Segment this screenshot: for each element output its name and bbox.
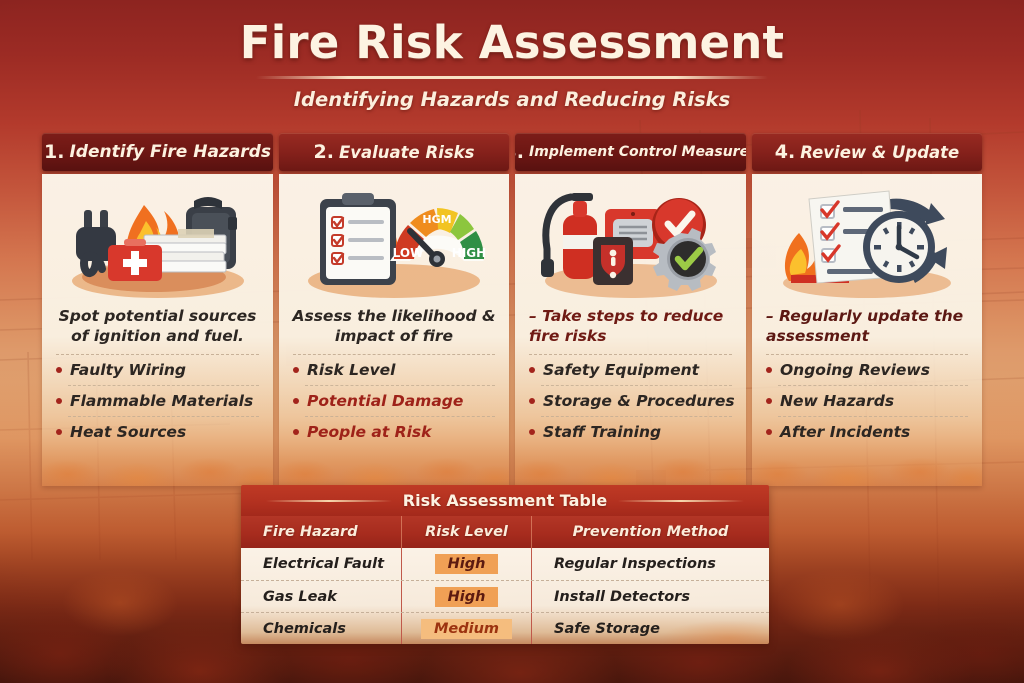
cell-prevention: Regular Inspections xyxy=(531,548,769,580)
fire-extinguisher xyxy=(541,193,597,279)
list-item[interactable]: Flammable Materials xyxy=(56,386,273,416)
table-column-header-risk: Risk Level xyxy=(401,516,531,548)
list-item[interactable]: Safety Equipment xyxy=(529,355,746,385)
bullet-label: Flammable Materials xyxy=(70,392,253,410)
step-body-1: Spot potential sources of ignition and f… xyxy=(42,174,273,486)
bullet-label: Potential Damage xyxy=(307,392,463,410)
bullet-dot-icon xyxy=(766,367,772,373)
status-badge: Medium xyxy=(421,619,512,639)
table-body: Electrical Fault High Regular Inspection… xyxy=(241,548,769,644)
gauge-label-medium: HGM xyxy=(422,213,451,226)
illustration-2: LOW HGM HIGH xyxy=(279,174,509,306)
list-item[interactable]: Heat Sources xyxy=(56,417,273,447)
alert-device xyxy=(593,237,633,285)
step-title-2: Evaluate Risks xyxy=(339,143,475,162)
step-bullets-4: Ongoing Reviews New Hazards After Incide… xyxy=(752,355,982,447)
step-description-2: Assess the likelihood & impact of fire xyxy=(279,306,509,346)
page-header: Fire Risk Assessment Identifying Hazards… xyxy=(0,0,1024,128)
bullet-dot-icon xyxy=(766,398,772,404)
bullet-label: Heat Sources xyxy=(70,423,186,441)
step-header-2[interactable]: 2. Evaluate Risks xyxy=(279,133,509,171)
gauge-label-high: HIGH xyxy=(452,246,486,260)
step-description-3: – Take steps to reduce fire risks xyxy=(515,306,746,346)
bullet-dot-icon xyxy=(293,367,299,373)
bullet-dot-icon xyxy=(293,429,299,435)
bullet-label: Staff Training xyxy=(543,423,661,441)
cell-risk: High xyxy=(401,581,531,613)
title-divider xyxy=(256,76,768,79)
risk-assessment-table-card: Risk Assessment Table Fire Hazard Risk L… xyxy=(241,485,769,644)
table-title-rule-left xyxy=(266,500,392,502)
step-number-1: 1. xyxy=(44,141,64,163)
list-item[interactable]: Potential Damage xyxy=(293,386,509,416)
cell-risk: High xyxy=(401,548,531,580)
list-item[interactable]: People at Risk xyxy=(293,417,509,447)
step-title-1: Identify Fire Hazards xyxy=(69,142,271,162)
bullet-separator xyxy=(305,416,495,417)
bullet-dot-icon xyxy=(529,398,535,404)
bullet-separator xyxy=(541,416,732,417)
step-body-2: LOW HGM HIGH Assess the likelihood & imp… xyxy=(279,174,509,486)
illustration-3 xyxy=(515,174,746,306)
table-title-rule-right xyxy=(618,500,744,502)
bullet-separator xyxy=(778,385,968,386)
list-item[interactable]: New Hazards xyxy=(766,386,982,416)
bullet-separator xyxy=(778,416,968,417)
cell-prevention: Install Detectors xyxy=(531,581,769,613)
bullet-label: Risk Level xyxy=(307,361,396,379)
page-subtitle: Identifying Hazards and Reducing Risks xyxy=(0,88,1024,111)
clock-icon xyxy=(863,211,935,283)
bullet-dot-icon xyxy=(56,367,62,373)
steps-columns: 1. Identify Fire Hazards xyxy=(42,133,982,486)
illustration-4 xyxy=(752,174,982,306)
step-column-3: 3. Implement Control Measures xyxy=(515,133,746,486)
bullet-dot-icon xyxy=(766,429,772,435)
step-column-4: 4. Review & Update xyxy=(752,133,982,486)
cell-hazard: Chemicals xyxy=(241,621,401,637)
status-badge: High xyxy=(435,554,499,574)
list-item[interactable]: Storage & Procedures xyxy=(529,386,746,416)
bullet-dot-icon xyxy=(293,398,299,404)
step-column-1: 1. Identify Fire Hazards xyxy=(42,133,273,486)
bullet-label: People at Risk xyxy=(307,423,431,441)
step-header-4[interactable]: 4. Review & Update xyxy=(752,133,982,171)
bullet-label: Ongoing Reviews xyxy=(780,361,930,379)
table-column-header-hazard: Fire Hazard xyxy=(241,516,401,548)
bullet-separator xyxy=(68,416,259,417)
clipboard xyxy=(320,193,396,285)
cell-hazard: Gas Leak xyxy=(241,589,401,605)
table-header-row: Fire Hazard Risk Level Prevention Method xyxy=(241,516,769,548)
step-number-4: 4. xyxy=(775,141,795,163)
first-aid-kit xyxy=(108,239,162,281)
step-header-3[interactable]: 3. Implement Control Measures xyxy=(515,133,746,171)
bullet-label: Storage & Procedures xyxy=(543,392,735,410)
cell-prevention: Safe Storage xyxy=(531,613,769,645)
step-description-4: – Regularly update the assessment xyxy=(752,306,982,346)
list-item[interactable]: Ongoing Reviews xyxy=(766,355,982,385)
bullet-dot-icon xyxy=(529,429,535,435)
step-number-3: 3. xyxy=(515,141,524,163)
cell-risk: Medium xyxy=(401,613,531,645)
table-row[interactable]: Gas Leak High Install Detectors xyxy=(241,580,769,612)
step-body-4: – Regularly update the assessment Ongoin… xyxy=(752,174,982,486)
bullet-label: After Incidents xyxy=(780,423,910,441)
step-description-1: Spot potential sources of ignition and f… xyxy=(42,306,273,346)
step-number-2: 2. xyxy=(314,141,334,163)
step-header-1[interactable]: 1. Identify Fire Hazards xyxy=(42,133,273,171)
table-title: Risk Assessment Table xyxy=(403,491,607,510)
bullet-separator xyxy=(305,385,495,386)
step-title-3: Implement Control Measures xyxy=(529,144,746,160)
risk-gauge: LOW HGM HIGH xyxy=(390,208,486,267)
bullet-dot-icon xyxy=(56,398,62,404)
step-bullets-2: Risk Level Potential Damage People at Ri… xyxy=(279,355,509,447)
infographic-canvas: Fire Risk Assessment Identifying Hazards… xyxy=(0,0,1024,683)
bullet-label: Faulty Wiring xyxy=(70,361,186,379)
bullet-separator xyxy=(68,385,259,386)
list-item[interactable]: Risk Level xyxy=(293,355,509,385)
step-bullets-1: Faulty Wiring Flammable Materials Heat S… xyxy=(42,355,273,447)
status-badge: High xyxy=(435,587,499,607)
step-title-4: Review & Update xyxy=(800,143,959,162)
bullet-label: New Hazards xyxy=(780,392,894,410)
cell-hazard: Electrical Fault xyxy=(241,556,401,572)
step-column-2: 2. Evaluate Risks xyxy=(279,133,509,486)
illustration-1 xyxy=(42,174,273,306)
table-row[interactable]: Electrical Fault High Regular Inspection… xyxy=(241,548,769,580)
gauge-label-low: LOW xyxy=(393,246,424,260)
step-bullets-3: Safety Equipment Storage & Procedures St… xyxy=(515,355,746,447)
table-title-bar: Risk Assessment Table xyxy=(241,485,769,516)
bullet-label: Safety Equipment xyxy=(543,361,699,379)
bullet-dot-icon xyxy=(56,429,62,435)
page-title: Fire Risk Assessment xyxy=(0,20,1024,65)
bullet-separator xyxy=(541,385,732,386)
bullet-dot-icon xyxy=(529,367,535,373)
step-body-3: – Take steps to reduce fire risks Safety… xyxy=(515,174,746,486)
list-item[interactable]: Faulty Wiring xyxy=(56,355,273,385)
table-row[interactable]: Chemicals Medium Safe Storage xyxy=(241,612,769,644)
list-item[interactable]: After Incidents xyxy=(766,417,982,447)
list-item[interactable]: Staff Training xyxy=(529,417,746,447)
table-column-header-prevention: Prevention Method xyxy=(531,516,769,548)
